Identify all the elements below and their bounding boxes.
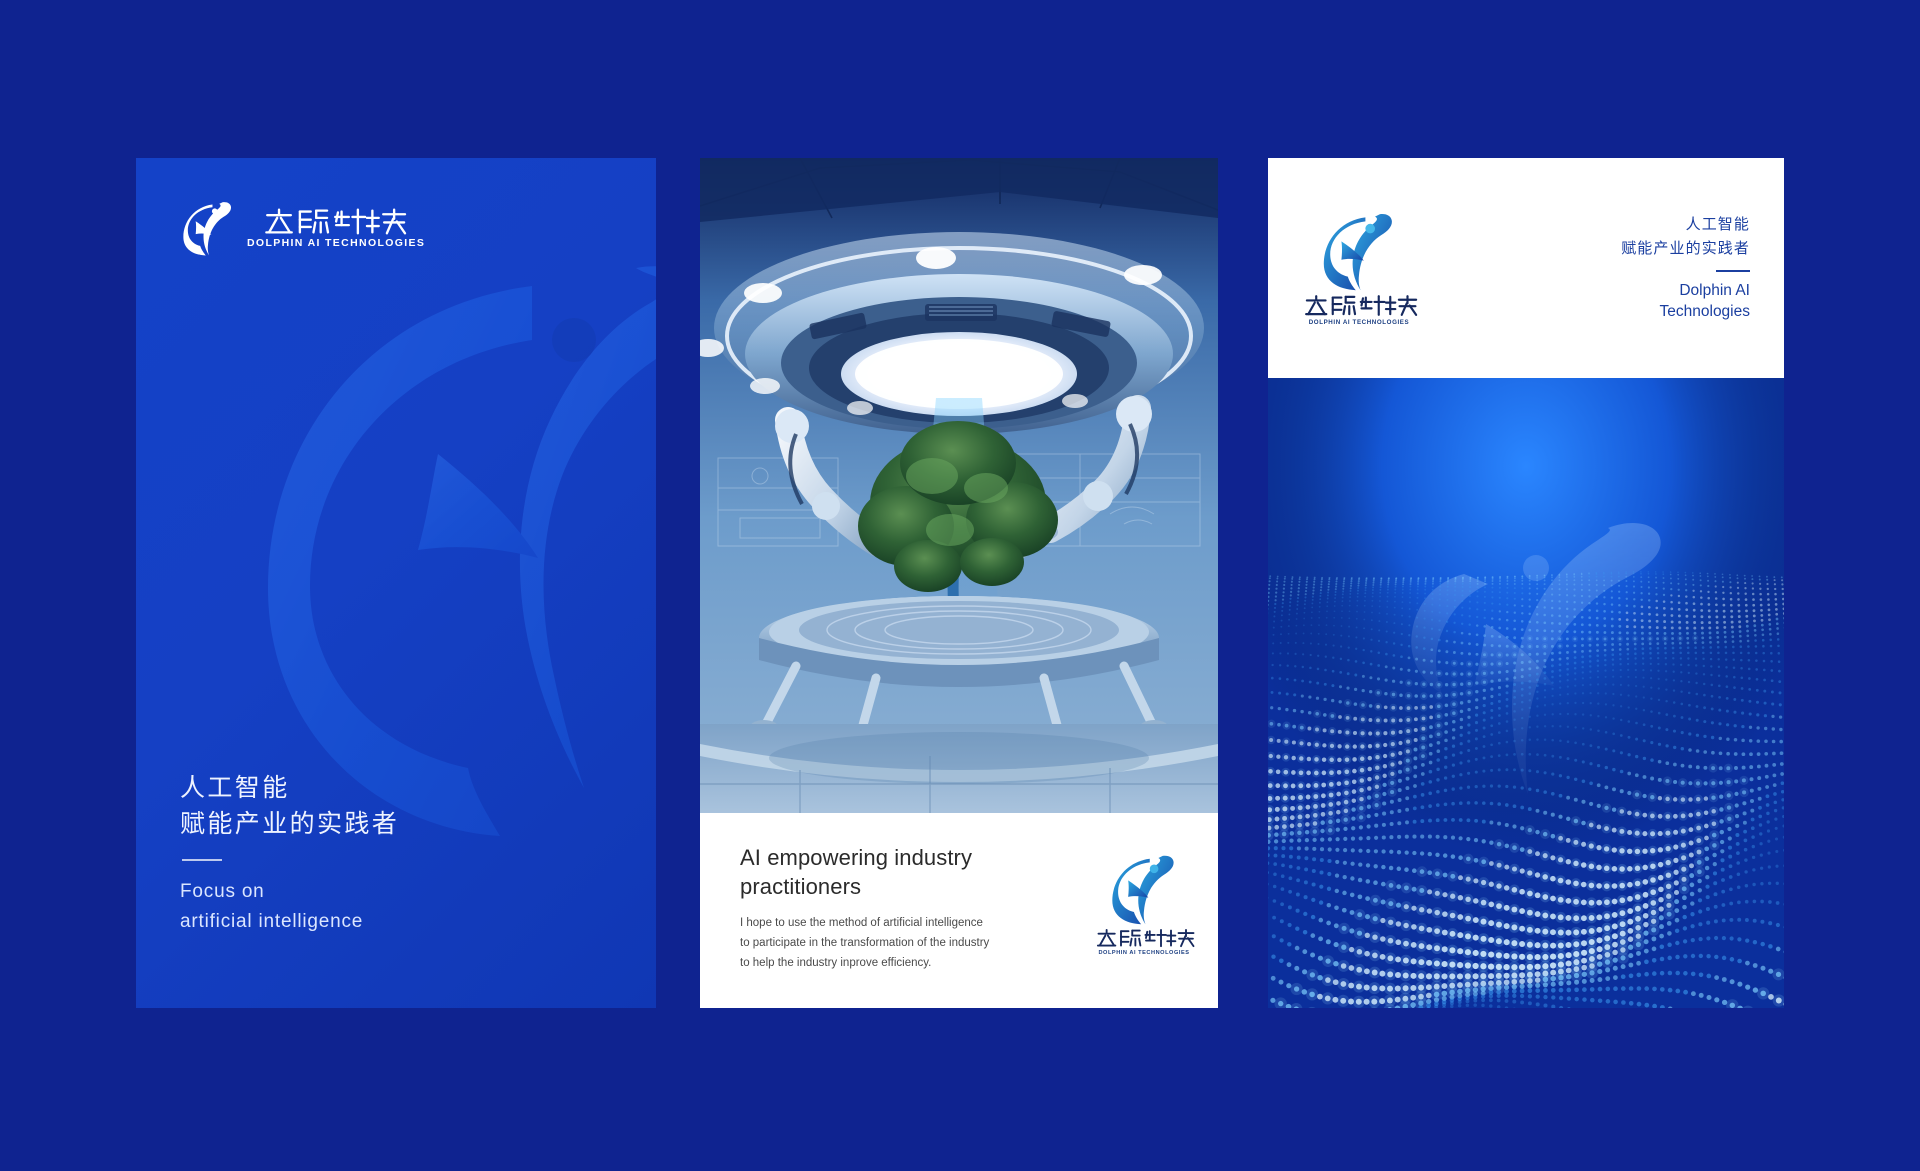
panel1-divider (182, 859, 222, 861)
panel1-subline2: artificial intelligence (180, 907, 600, 936)
panel1-subline1: Focus on (180, 877, 600, 906)
logotype-cn-icon (247, 207, 425, 236)
panel1-copy-block: 人工智能 赋能产业的实践者 Focus on artificial intell… (180, 770, 600, 936)
dolphin-swoosh-icon (1316, 211, 1402, 291)
logotype-en: DOLPHIN AI TECHNOLOGIES (247, 238, 425, 249)
panel2-body-line3: to help the industry inprove efficiency. (740, 954, 1040, 974)
panel3-tagline-cn1: 人工智能 (1621, 213, 1750, 237)
panel1-headline-line2: 赋能产业的实践者 (180, 806, 600, 842)
particle-wave-visual (1268, 378, 1784, 1008)
panel2-body-line2: to participate in the transformation of … (740, 934, 1040, 954)
panel3-divider (1716, 270, 1750, 272)
dolphin-swoosh-icon (1105, 853, 1183, 925)
lab-photo (700, 158, 1218, 813)
panel2-logo-lockup: DOLPHIN AI TECHNOLOGIES (1096, 853, 1192, 956)
dolphin-swoosh-icon (180, 200, 236, 256)
panel1-logo-lockup: DOLPHIN AI TECHNOLOGIES (180, 200, 425, 256)
panel-wave-card: DOLPHIN AI TECHNOLOGIES 人工智能 赋能产业的实践者 Do… (1268, 158, 1784, 1008)
panel2-body: I hope to use the method of artificial i… (740, 914, 1040, 973)
panel3-tagline: 人工智能 赋能产业的实践者 Dolphin AI Technologies (1621, 213, 1750, 322)
panel3-tagline-en1: Dolphin AI (1621, 280, 1750, 301)
panel3-tagline-cn2: 赋能产业的实践者 (1621, 237, 1750, 261)
panel2-title: AI empowering industry practitioners (740, 843, 1040, 901)
panel-photo-card: AI empowering industry practitioners I h… (700, 158, 1218, 1008)
dolphin-logo-watermark-icon (232, 228, 656, 848)
panel2-caption-text: AI empowering industry practitioners I h… (740, 843, 1040, 973)
poster-stage: DOLPHIN AI TECHNOLOGIES 人工智能 赋能产业的实践者 Fo… (0, 0, 1920, 1171)
logotype-en: DOLPHIN AI TECHNOLOGIES (1304, 319, 1414, 326)
panel2-caption: AI empowering industry practitioners I h… (700, 813, 1218, 1008)
panel1-headline-line1: 人工智能 (180, 770, 600, 806)
panel2-body-line1: I hope to use the method of artificial i… (740, 914, 1040, 934)
panel3-header: DOLPHIN AI TECHNOLOGIES 人工智能 赋能产业的实践者 Do… (1268, 158, 1784, 378)
particle-wave-illustration (1268, 378, 1784, 1008)
logotype-cn-icon (1304, 294, 1419, 317)
panel-blue-poster: DOLPHIN AI TECHNOLOGIES 人工智能 赋能产业的实践者 Fo… (136, 158, 656, 1008)
panel3-tagline-en2: Technologies (1621, 301, 1750, 322)
panel3-logo-lockup: DOLPHIN AI TECHNOLOGIES (1304, 211, 1414, 326)
futuristic-lab-illustration (700, 158, 1218, 813)
panel1-logo-words: DOLPHIN AI TECHNOLOGIES (247, 207, 425, 249)
logotype-en: DOLPHIN AI TECHNOLOGIES (1096, 950, 1192, 956)
logotype-cn-icon (1096, 928, 1196, 948)
